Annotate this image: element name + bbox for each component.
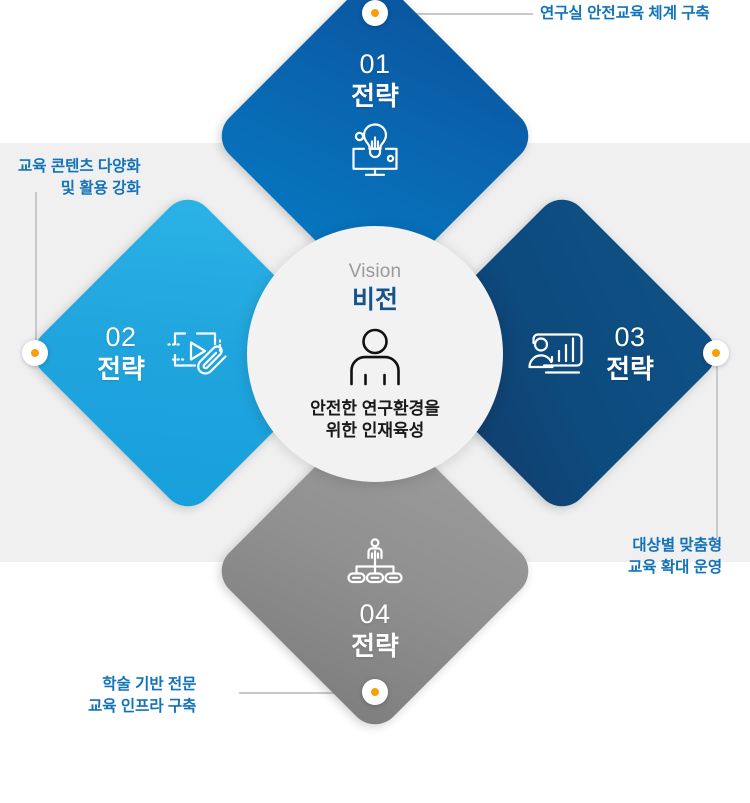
strategy-diamond-01-inner: 01 전략 [259,20,491,252]
callout-bottom-right-line2: 교육 확대 운영 [628,557,722,579]
callout-top-right: 연구실 안전교육 체계 구축 [540,3,710,25]
connector-dot-bottom[interactable] [362,679,388,705]
connector-line-left [35,192,37,354]
strategy-04-label: 전략 [351,632,399,661]
callout-bottom-left-line1: 학술 기반 전문 [88,674,196,696]
callout-left: 교육 콘텐츠 다양화 및 활용 강화 [18,156,141,201]
strategy-01-number: 01 [351,49,399,79]
strategy-03-label: 전략 [606,355,654,384]
connector-dot-top[interactable] [362,0,388,26]
callout-bottom-right-line1: 대상별 맞춤형 [628,535,722,557]
vision-label-en: Vision [349,262,402,281]
strategy-04-text: 04 전략 [351,599,399,660]
strategy-03-text: 03 전략 [606,322,654,383]
video-attachment-icon [163,325,231,381]
callout-left-line1: 교육 콘텐츠 다양화 [18,156,141,178]
connector-line-right [716,353,718,538]
vision-description-line1: 안전한 연구환경을 [310,399,440,418]
presentation-chart-person-icon [522,325,588,381]
strategy-02-text: 02 전략 [97,322,145,383]
vision-description: 안전한 연구환경을 위한 인재육성 [310,398,440,442]
callout-left-line2: 및 활용 강화 [18,178,141,200]
org-chart-icon [346,537,404,587]
connector-dot-left[interactable] [22,340,48,366]
strategy-03-content: 03 전략 [522,322,654,383]
lightbulb-monitor-icon [344,121,406,179]
strategy-04-content: 04 전략 [346,537,404,660]
connector-dot-right[interactable] [703,340,729,366]
vision-description-line2: 위한 인재육성 [326,421,425,440]
strategy-03-number: 03 [606,322,654,352]
vision-label-ko: 비전 [352,288,398,313]
callout-bottom-left: 학술 기반 전문 교육 인프라 구축 [88,674,196,719]
vision-center-circle[interactable]: Vision 비전 안전한 연구환경을 위한 인재육성 [247,226,503,482]
callout-bottom-left-line2: 교육 인프라 구축 [88,696,196,718]
diagram-canvas: 01 전략 [0,0,750,720]
strategy-01-content: 01 전략 [344,49,406,178]
strategy-02-number: 02 [97,322,145,352]
callout-top-right-line1: 연구실 안전교육 체계 구축 [540,3,710,25]
strategy-01-text: 01 전략 [351,49,399,110]
person-icon [346,327,404,392]
strategy-02-content: 02 전략 [97,322,231,383]
strategy-01-label: 전략 [351,82,399,111]
callout-bottom-right: 대상별 맞춤형 교육 확대 운영 [628,535,722,580]
strategy-diamond-04-inner: 04 전략 [259,455,491,687]
strategy-02-label: 전략 [97,355,145,384]
strategy-04-number: 04 [351,599,399,629]
